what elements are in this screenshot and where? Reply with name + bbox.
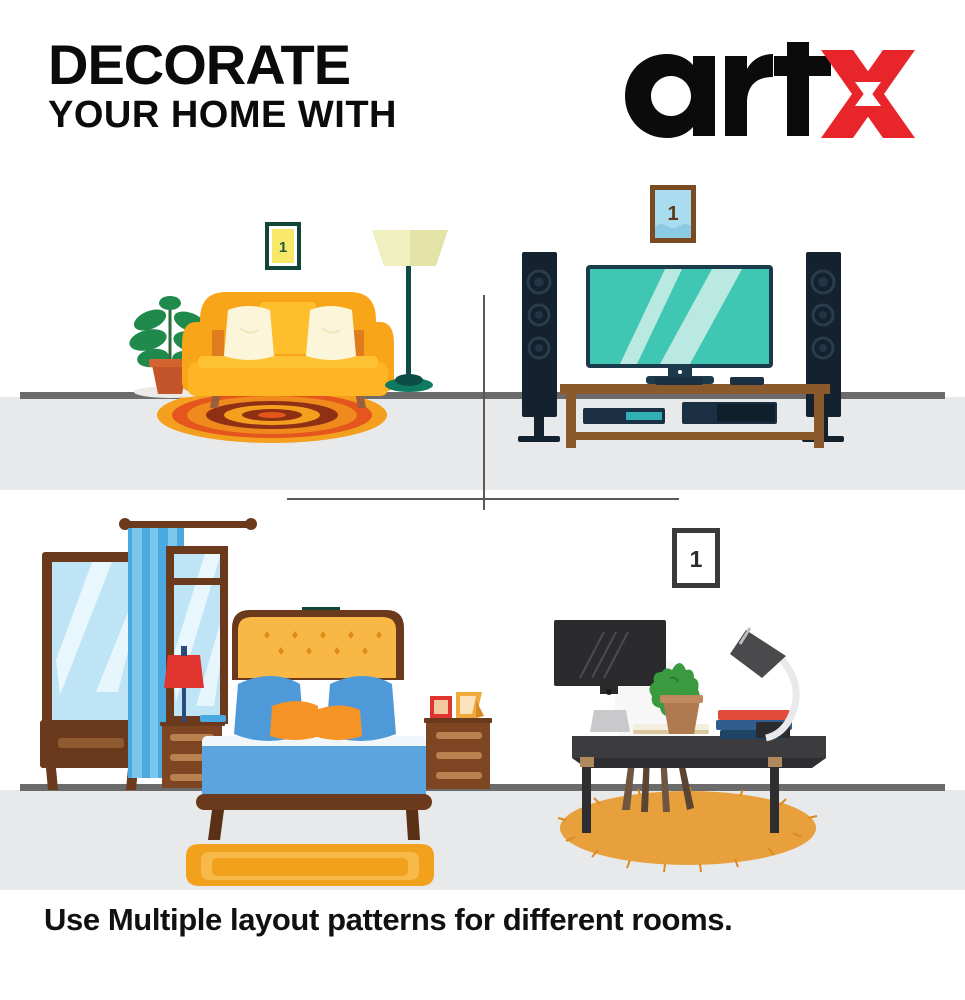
- headline-line-2: YOUR HOME WITH: [48, 92, 518, 138]
- yellow-sofa: [182, 292, 394, 408]
- frame-number: 1: [279, 239, 287, 256]
- frame-number: 1: [690, 546, 703, 572]
- flat-screen-tv: [586, 265, 773, 384]
- frame-number: 1: [667, 203, 678, 225]
- horizontal-divider: [287, 498, 679, 500]
- wall-frame-living-room[interactable]: 1: [265, 222, 301, 270]
- floor: [0, 790, 965, 890]
- tower-speaker-left: [518, 252, 560, 442]
- artx-logo: [615, 42, 915, 147]
- headline-line-1: DECORATE: [48, 38, 518, 92]
- page-title: DECORATE YOUR HOME WITH: [48, 38, 518, 138]
- poster-canvas: DECORATE YOUR HOME WITH: [0, 0, 965, 1000]
- artx-logo-svg: [615, 42, 915, 147]
- nightstand-right: [424, 718, 492, 789]
- scene-bottom-svg: 1: [0, 510, 965, 890]
- caption-text: Use Multiple layout patterns for differe…: [44, 902, 732, 938]
- logo-wordmark-art: [625, 42, 831, 138]
- wall-frame-tv-room[interactable]: 1: [650, 185, 696, 243]
- orange-rug-bedroom: [186, 844, 434, 886]
- header: DECORATE YOUR HOME WITH: [0, 0, 965, 170]
- wall-frame-home-office[interactable]: 1: [672, 528, 720, 588]
- logo-mark-x: [821, 50, 915, 138]
- scene-row-bottom: 1: [0, 510, 965, 890]
- window: [166, 546, 228, 724]
